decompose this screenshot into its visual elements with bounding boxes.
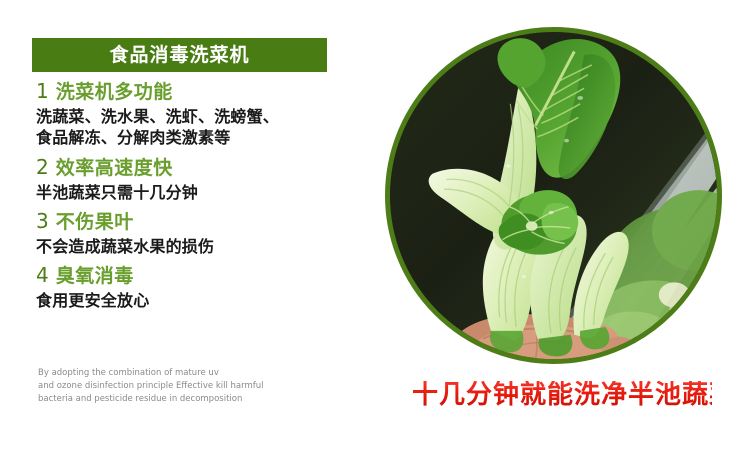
feature-heading-4: 4 臭氧消毒 — [36, 264, 356, 288]
bok-choy-photo — [390, 32, 717, 359]
feature-item-3: 3 不伤果叶 不会造成蔬菜水果的损伤 — [36, 210, 356, 257]
feature-title-2: 效率高速度快 — [56, 158, 173, 180]
left-content-column: 食品消毒洗菜机 1 洗菜机多功能 洗蔬菜、洗水果、洗虾、洗螃蟹、 食品解冻、分解… — [0, 0, 380, 470]
english-description-line-1: By adopting the combination of mature uv — [38, 367, 288, 380]
feature-heading-3: 3 不伤果叶 — [36, 210, 356, 234]
feature-body-1-line-2: 食品解冻、分解肉类激素等 — [36, 127, 356, 148]
feature-body-2: 半池蔬菜只需十几分钟 — [36, 182, 356, 203]
feature-body-4-line-1: 食用更安全放心 — [36, 290, 356, 311]
feature-item-2: 2 效率高速度快 半池蔬菜只需十几分钟 — [36, 156, 356, 203]
feature-number-3: 3 — [36, 210, 49, 233]
product-photo-circle — [385, 27, 722, 364]
feature-body-3: 不会造成蔬菜水果的损伤 — [36, 236, 356, 257]
feature-body-3-line-1: 不会造成蔬菜水果的损伤 — [36, 236, 356, 257]
feature-title-3: 不伤果叶 — [56, 212, 134, 234]
feature-title-1: 洗菜机多功能 — [56, 82, 173, 104]
feature-number-4: 4 — [36, 264, 49, 287]
feature-heading-1: 1 洗菜机多功能 — [36, 80, 356, 104]
red-caption-text: 十几分钟就能洗净半池蔬菜 — [412, 381, 712, 410]
feature-list: 1 洗菜机多功能 洗蔬菜、洗水果、洗虾、洗螃蟹、 食品解冻、分解肉类激素等 2 … — [36, 80, 356, 319]
feature-item-1: 1 洗菜机多功能 洗蔬菜、洗水果、洗虾、洗螃蟹、 食品解冻、分解肉类激素等 — [36, 80, 356, 149]
english-description: By adopting the combination of mature uv… — [38, 367, 288, 407]
product-poster: 食品消毒洗菜机 1 洗菜机多功能 洗蔬菜、洗水果、洗虾、洗螃蟹、 食品解冻、分解… — [0, 0, 750, 470]
feature-body-4: 食用更安全放心 — [36, 290, 356, 311]
feature-body-2-line-1: 半池蔬菜只需十几分钟 — [36, 182, 356, 203]
feature-item-4: 4 臭氧消毒 食用更安全放心 — [36, 264, 356, 311]
bok-choy-illustration — [390, 32, 717, 359]
feature-number-2: 2 — [36, 156, 49, 179]
title-banner: 食品消毒洗菜机 — [32, 38, 327, 72]
feature-body-1: 洗蔬菜、洗水果、洗虾、洗螃蟹、 食品解冻、分解肉类激素等 — [36, 106, 356, 149]
title-banner-text: 食品消毒洗菜机 — [109, 46, 249, 65]
feature-title-4: 臭氧消毒 — [56, 266, 134, 288]
feature-heading-2: 2 效率高速度快 — [36, 156, 356, 180]
feature-number-1: 1 — [36, 80, 49, 103]
english-description-line-2: and ozone disinfection principle Effecti… — [38, 380, 288, 393]
english-description-line-3: bacteria and pesticide residue in decomp… — [38, 393, 288, 406]
feature-body-1-line-1: 洗蔬菜、洗水果、洗虾、洗螃蟹、 — [36, 106, 356, 127]
